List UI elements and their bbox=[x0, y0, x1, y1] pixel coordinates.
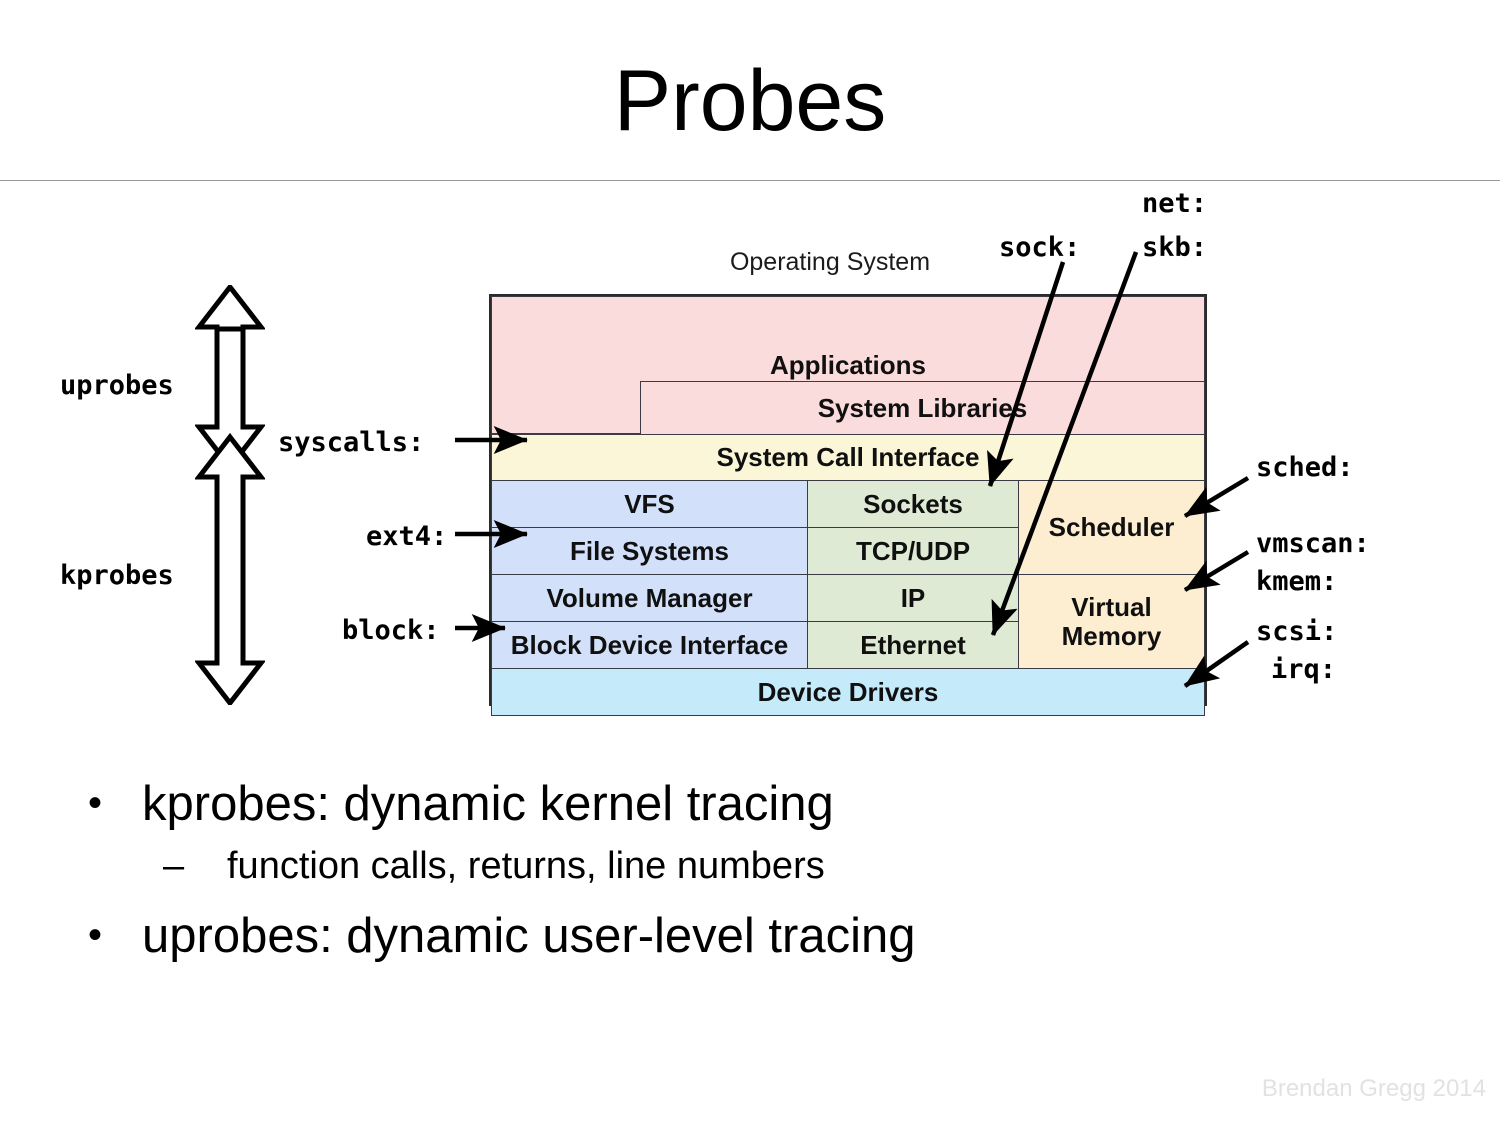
slide: Probes Operating System uprobes kprobes … bbox=[0, 0, 1500, 1125]
bullet-item-2: – function calls, returns, line numbers bbox=[78, 846, 1278, 888]
arrow-sock bbox=[990, 262, 1063, 486]
arrow-net-skb bbox=[993, 252, 1136, 635]
probe-connector-arrows bbox=[0, 190, 1500, 750]
bullet-text: function calls, returns, line numbers bbox=[227, 846, 825, 888]
arrow-sched bbox=[1185, 478, 1248, 516]
bullet-text: uprobes: dynamic user-level tracing bbox=[142, 910, 915, 964]
bullet-marker: • bbox=[78, 778, 142, 828]
bullet-marker: • bbox=[78, 910, 142, 960]
bullet-marker: – bbox=[78, 846, 227, 888]
arrow-scsi-irq bbox=[1185, 642, 1248, 686]
arrow-vmscan-kmem bbox=[1185, 552, 1248, 590]
title-divider bbox=[0, 180, 1500, 181]
bullet-item-3: • uprobes: dynamic user-level tracing bbox=[78, 910, 1278, 964]
bullet-list: • kprobes: dynamic kernel tracing – func… bbox=[78, 778, 1278, 978]
os-stack-diagram: Operating System uprobes kprobes Applica… bbox=[0, 190, 1500, 750]
bullet-text: kprobes: dynamic kernel tracing bbox=[142, 778, 834, 832]
footer-credit: Brendan Gregg 2014 bbox=[1262, 1075, 1486, 1103]
page-title: Probes bbox=[0, 58, 1500, 144]
bullet-item-1: • kprobes: dynamic kernel tracing bbox=[78, 778, 1278, 832]
